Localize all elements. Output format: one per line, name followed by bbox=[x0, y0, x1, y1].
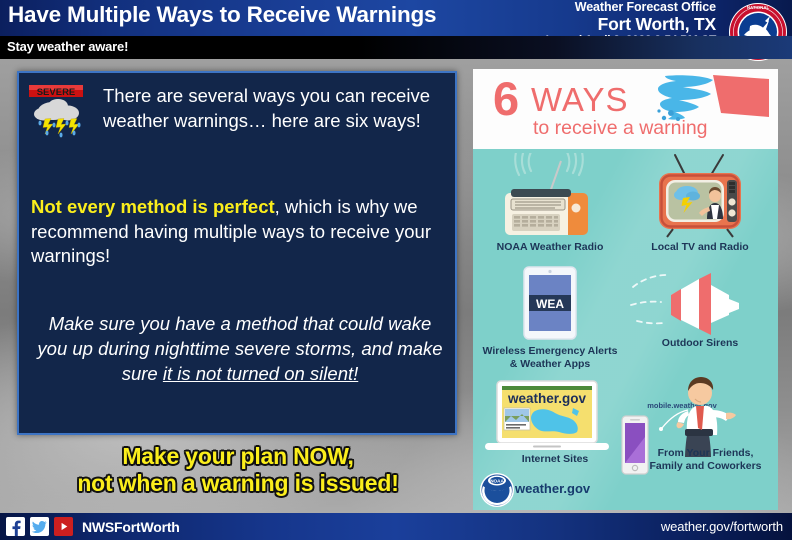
megaphone-siren-icon bbox=[625, 265, 775, 347]
page-title: Have Multiple Ways to Receive Warnings bbox=[8, 2, 436, 28]
infographic-number: 6 bbox=[493, 75, 519, 122]
way-label-internet-sites: Internet Sites bbox=[475, 453, 635, 466]
subtitle-bar: Stay weather aware! bbox=[0, 36, 792, 59]
advice-underlined: it is not turned on silent! bbox=[163, 363, 358, 384]
cta-line-2: not when a warning is issued! bbox=[18, 470, 458, 497]
facebook-icon[interactable] bbox=[6, 517, 25, 536]
infographic-page: Have Multiple Ways to Receive Warnings W… bbox=[0, 0, 792, 540]
office-name: Fort Worth, TX bbox=[546, 15, 716, 33]
weather-radio-icon bbox=[475, 153, 625, 239]
message-panel: SEVERE There are sever bbox=[17, 71, 457, 435]
way-label-outdoor-sirens: Outdoor Sirens bbox=[625, 337, 775, 350]
laptop-icon: weather.gov bbox=[475, 377, 635, 457]
television-icon bbox=[625, 153, 775, 239]
infographic-title-word: WAYS bbox=[531, 83, 629, 116]
tornado-icon bbox=[651, 73, 773, 125]
intro-paragraph: There are several ways you can receive w… bbox=[103, 84, 445, 133]
twitter-icon[interactable] bbox=[30, 517, 49, 536]
nighttime-advice-paragraph: Make sure you have a method that could w… bbox=[33, 311, 447, 386]
tablet-wea-icon: WEA bbox=[475, 265, 625, 347]
footer-bar: NWSFortWorth weather.gov/fortworth bbox=[0, 513, 792, 540]
svg-text:SEVERE: SEVERE bbox=[37, 87, 76, 98]
way-item-wireless-emergency-alerts: WEA Wireless Emergency Alerts & Weather … bbox=[475, 265, 625, 375]
youtube-icon[interactable] bbox=[54, 517, 73, 536]
social-links: NWSFortWorth bbox=[6, 517, 180, 536]
way-item-internet-sites: weather.gov Internet Sites bbox=[475, 377, 635, 477]
way-label-wea-line1: Wireless Emergency Alerts bbox=[475, 345, 625, 358]
svg-text:NOAA: NOAA bbox=[490, 478, 504, 483]
office-label: Weather Forecast Office bbox=[546, 1, 716, 14]
subtitle-text: Stay weather aware! bbox=[7, 39, 128, 54]
highlight-text: Not every method is perfect bbox=[31, 196, 275, 217]
way-label-local-tv-radio: Local TV and Radio bbox=[625, 241, 775, 254]
way-label-friends-line1: From Your Friends, bbox=[633, 447, 778, 460]
way-item-outdoor-sirens: Outdoor Sirens bbox=[625, 265, 775, 375]
laptop-screen-text: weather.gov bbox=[507, 391, 587, 406]
footer-url: weather.gov/fortworth bbox=[661, 519, 783, 534]
call-to-action: Make your plan NOW, not when a warning i… bbox=[18, 443, 458, 496]
cta-line-1: Make your plan NOW, bbox=[18, 443, 458, 470]
way-item-friends-family: From Your Friends, Family and Coworkers bbox=[633, 369, 778, 484]
wea-screen-text: WEA bbox=[536, 297, 564, 311]
social-handle: NWSFortWorth bbox=[82, 519, 180, 535]
noaa-weather-gov-text: weather.gov bbox=[515, 481, 590, 496]
header-bar: Have Multiple Ways to Receive Warnings W… bbox=[0, 0, 792, 36]
way-item-noaa-weather-radio: NOAA Weather Radio bbox=[475, 153, 625, 261]
way-label-wea-line2: & Weather Apps bbox=[475, 358, 625, 371]
recommendation-paragraph: Not every method is perfect, which is wh… bbox=[31, 195, 451, 269]
way-item-local-tv-radio: Local TV and Radio bbox=[625, 153, 775, 261]
infographic-header: 6 WAYS to receive a warning bbox=[473, 69, 778, 149]
way-label-friends-line2: Family and Coworkers bbox=[633, 460, 778, 473]
severe-thunderstorm-icon: SEVERE bbox=[27, 83, 95, 145]
way-label-noaa-weather-radio: NOAA Weather Radio bbox=[475, 241, 625, 254]
six-ways-infographic: 6 WAYS to receive a warning bbox=[473, 69, 778, 510]
